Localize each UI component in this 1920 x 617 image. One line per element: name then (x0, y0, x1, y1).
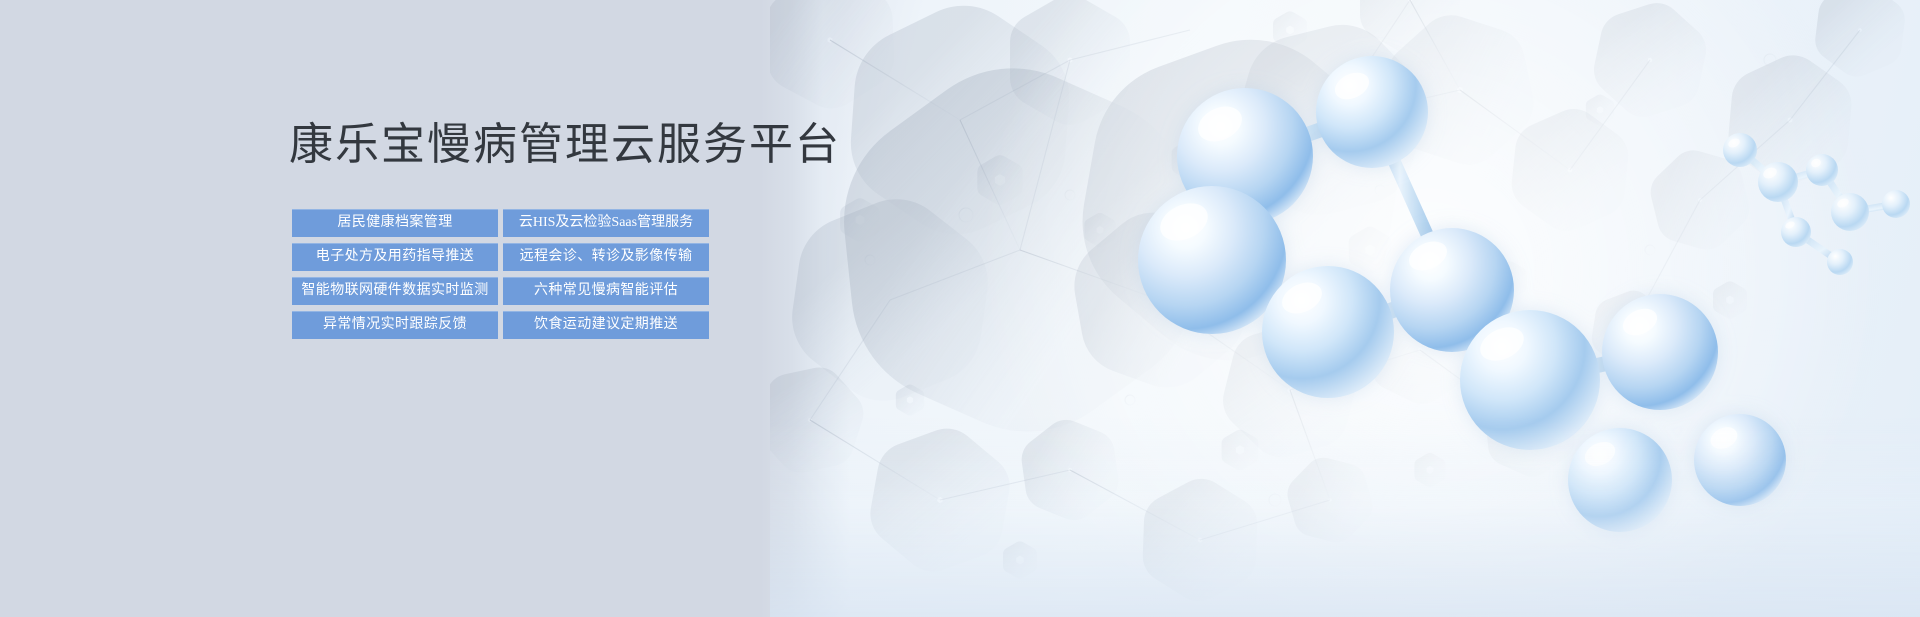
feature-tag[interactable]: 异常情况实时跟踪反馈 (292, 311, 498, 339)
banner-content: 康乐宝慢病管理云服务平台 居民健康档案管理 云HIS及云检验Saas管理服务 电… (0, 0, 830, 617)
feature-tag-grid: 居民健康档案管理 云HIS及云检验Saas管理服务 电子处方及用药指导推送 远程… (292, 209, 709, 339)
feature-tag[interactable]: 六种常见慢病智能评估 (503, 277, 709, 305)
feature-tag[interactable]: 远程会诊、转诊及影像传输 (503, 243, 709, 271)
feature-tag[interactable]: 居民健康档案管理 (292, 209, 498, 237)
feature-tag[interactable]: 饮食运动建议定期推送 (503, 311, 709, 339)
banner-background-right (770, 0, 1920, 617)
feature-tag[interactable]: 电子处方及用药指导推送 (292, 243, 498, 271)
hero-banner: 康乐宝慢病管理云服务平台 居民健康档案管理 云HIS及云检验Saas管理服务 电… (0, 0, 1920, 617)
feature-tag[interactable]: 云HIS及云检验Saas管理服务 (503, 209, 709, 237)
feature-tag[interactable]: 智能物联网硬件数据实时监测 (292, 277, 498, 305)
page-title: 康乐宝慢病管理云服务平台 (289, 117, 841, 173)
